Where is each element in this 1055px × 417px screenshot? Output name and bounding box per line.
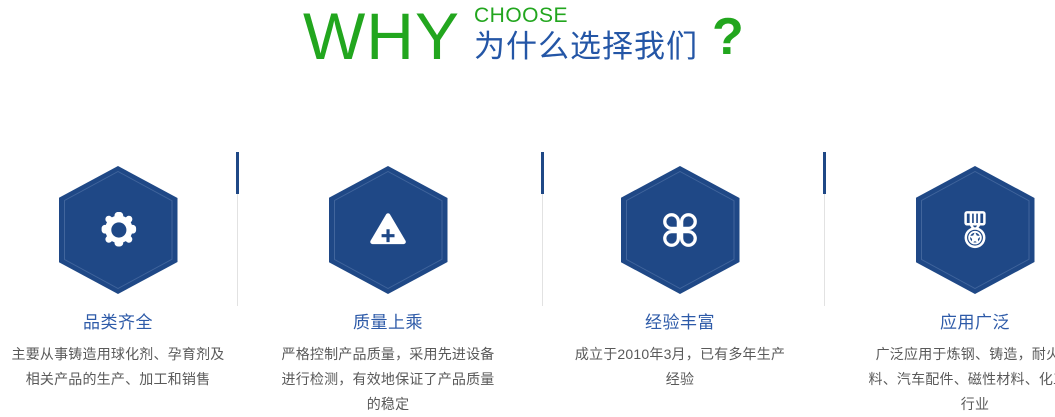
gear-icon bbox=[95, 207, 141, 253]
hexagon-badge bbox=[621, 166, 740, 294]
header-title-group: WHY CHOOSE 为什么选择我们 ? bbox=[303, 0, 744, 82]
feature-card-quality[interactable]: 质量上乘 严格控制产品质量，采用先进设备进行检测，有效地保证了产品质量的稳定 bbox=[270, 150, 506, 416]
hexagon-badge bbox=[329, 166, 448, 294]
section-header: WHY CHOOSE 为什么选择我们 ? bbox=[0, 0, 1055, 100]
card-separator bbox=[236, 152, 239, 306]
card-separator bbox=[823, 152, 826, 306]
header-question-mark: ? bbox=[712, 0, 744, 68]
separator-accent-top bbox=[236, 152, 239, 194]
separator-accent-top bbox=[823, 152, 826, 194]
feature-cards-row: 品类齐全 主要从事铸造用球化剂、孕育剂及相关产品的生产、加工和销售 质量上乘 严… bbox=[0, 150, 1055, 416]
separator-accent-top bbox=[541, 152, 544, 194]
feature-card-title: 经验丰富 bbox=[562, 312, 798, 334]
medal-star-icon bbox=[952, 207, 998, 253]
separator-line-bottom bbox=[824, 194, 825, 306]
triangle-plus-icon bbox=[365, 207, 411, 253]
feature-card-description: 成立于2010年3月，已有多年生产经验 bbox=[568, 342, 792, 392]
four-petal-clover-icon bbox=[657, 207, 703, 253]
card-separator bbox=[541, 152, 544, 306]
separator-line-bottom bbox=[542, 194, 543, 306]
hexagon-badge bbox=[59, 166, 178, 294]
feature-card-title: 品类齐全 bbox=[0, 312, 236, 334]
feature-card-title: 应用广泛 bbox=[857, 312, 1055, 334]
feature-card-description: 广泛应用于炼钢、铸造，耐火材料、汽车配件、磁性材料、化工等行业 bbox=[863, 342, 1055, 417]
feature-card-description: 严格控制产品质量，采用先进设备进行检测，有效地保证了产品质量的稳定 bbox=[276, 342, 500, 417]
header-choose-text: CHOOSE bbox=[474, 4, 698, 28]
header-text-stack: CHOOSE 为什么选择我们 bbox=[474, 0, 698, 66]
feature-card-title: 质量上乘 bbox=[270, 312, 506, 334]
feature-card-application[interactable]: 应用广泛 广泛应用于炼钢、铸造，耐火材料、汽车配件、磁性材料、化工等行业 bbox=[857, 150, 1055, 416]
hexagon-badge bbox=[916, 166, 1035, 294]
feature-card-experience[interactable]: 经验丰富 成立于2010年3月，已有多年生产经验 bbox=[562, 150, 798, 416]
header-subtitle-cn: 为什么选择我们 bbox=[474, 28, 698, 66]
separator-line-bottom bbox=[237, 194, 238, 306]
feature-card-category[interactable]: 品类齐全 主要从事铸造用球化剂、孕育剂及相关产品的生产、加工和销售 bbox=[0, 150, 236, 416]
header-why-text: WHY bbox=[303, 0, 460, 72]
feature-card-description: 主要从事铸造用球化剂、孕育剂及相关产品的生产、加工和销售 bbox=[6, 342, 230, 392]
